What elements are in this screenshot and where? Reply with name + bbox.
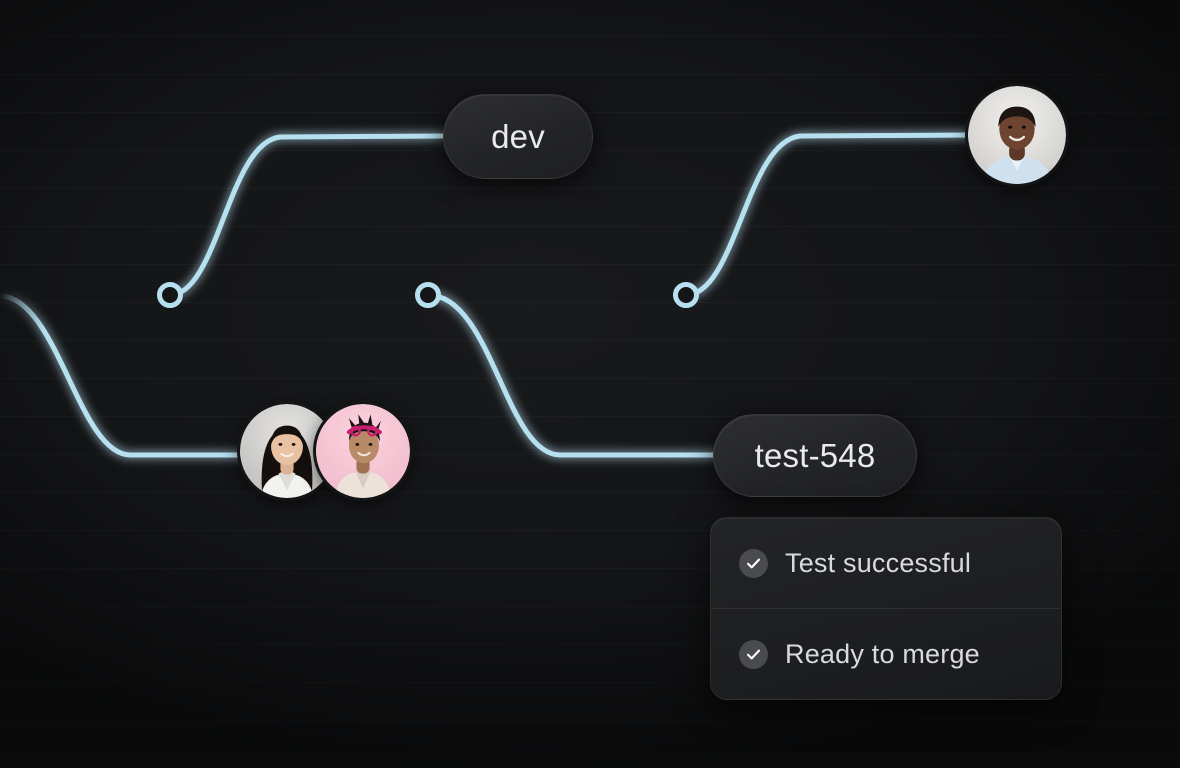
branch-pill-test[interactable]: test-548 [713, 414, 917, 497]
branch-dev-curve [170, 136, 443, 295]
branch-pill-dev[interactable]: dev [443, 94, 593, 179]
branch-test-curve [428, 295, 716, 455]
status-label-test-successful: Test successful [785, 548, 971, 579]
status-card: Test successful Ready to merge [710, 517, 1062, 700]
commit-node-3[interactable] [676, 285, 697, 306]
avatar-reviewer-image [968, 86, 1066, 184]
avatar-author-2-image [316, 404, 410, 498]
branch-pill-dev-label: dev [491, 118, 545, 156]
branch-pill-test-label: test-548 [755, 437, 876, 475]
check-circle-icon [739, 549, 768, 578]
avatar-author-2[interactable] [316, 404, 410, 498]
status-label-ready-to-merge: Ready to merge [785, 639, 980, 670]
check-circle-icon [739, 640, 768, 669]
branch-authors-curve [0, 296, 248, 455]
branch-reviewer-curve [686, 135, 975, 295]
status-row-test-successful[interactable]: Test successful [711, 518, 1061, 608]
avatar-reviewer[interactable] [968, 86, 1066, 184]
status-row-ready-to-merge[interactable]: Ready to merge [711, 608, 1061, 699]
commit-node-1[interactable] [160, 285, 181, 306]
commit-node-2[interactable] [418, 285, 439, 306]
git-graph-canvas: dev test-548 [0, 0, 1180, 768]
